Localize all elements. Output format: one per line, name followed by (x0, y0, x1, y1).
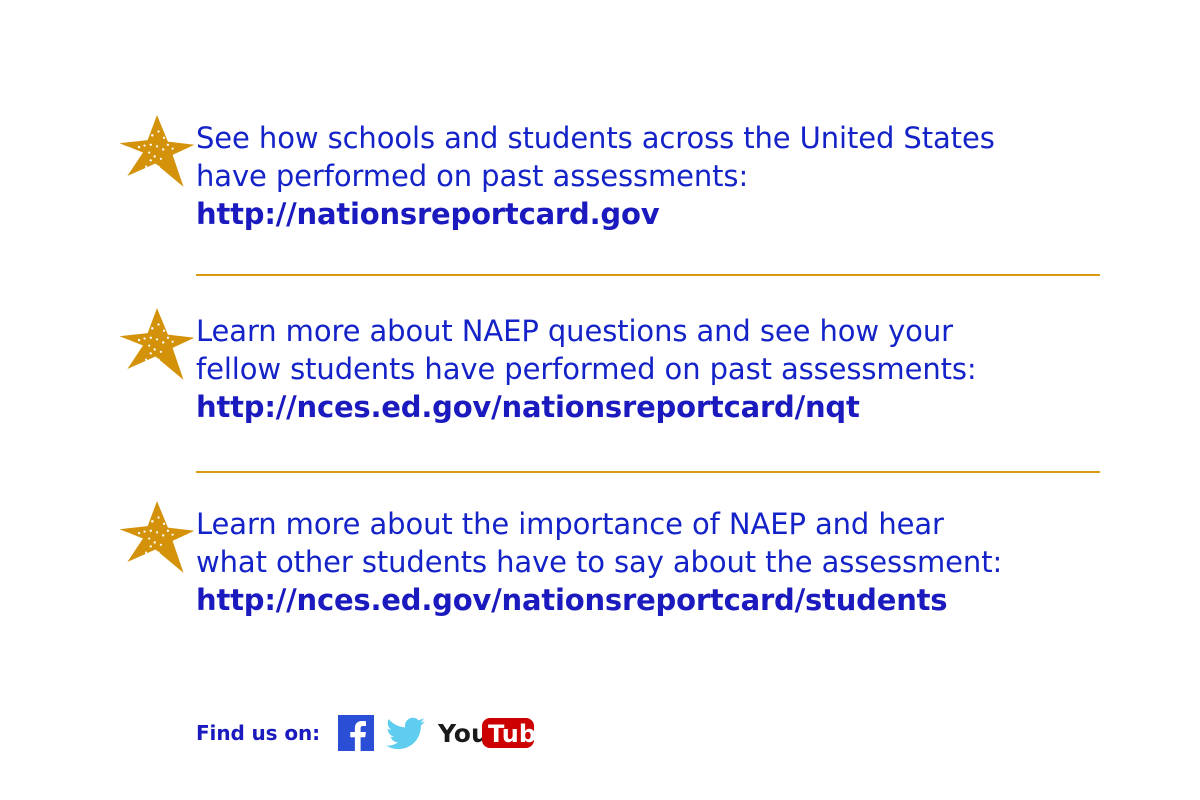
resource-url[interactable]: http://nces.ed.gov/nationsreportcard/nqt (196, 388, 1108, 426)
gold-star-icon (118, 112, 196, 190)
slide-canvas: See how schools and students across the … (0, 0, 1200, 800)
resource-line: Learn more about the importance of NAEP … (196, 505, 1108, 543)
resource-block: See how schools and students across the … (118, 112, 1108, 233)
resource-block: Learn more about NAEP questions and see … (118, 305, 1108, 426)
gold-star-icon (118, 498, 196, 576)
facebook-icon[interactable] (338, 715, 374, 751)
section-divider (196, 471, 1100, 473)
section-divider (196, 274, 1100, 276)
resource-line: fellow students have performed on past a… (196, 350, 1108, 388)
resource-line: Learn more about NAEP questions and see … (196, 312, 1108, 350)
resource-text: Learn more about the importance of NAEP … (196, 498, 1108, 619)
svg-text:Tube: Tube (488, 720, 534, 748)
youtube-icon[interactable]: You Tube (438, 716, 534, 750)
resource-line: See how schools and students across the … (196, 119, 1108, 157)
find-us-on-label: Find us on: (196, 723, 320, 743)
gold-star-icon (118, 305, 196, 383)
social-icon-list: You Tube (338, 715, 534, 751)
svg-text:You: You (438, 719, 489, 748)
social-footer: Find us on: You Tube (196, 710, 534, 756)
twitter-icon[interactable] (386, 715, 426, 751)
resource-text: Learn more about NAEP questions and see … (196, 305, 1108, 426)
resource-line: what other students have to say about th… (196, 543, 1108, 581)
resource-url[interactable]: http://nationsreportcard.gov (196, 195, 1108, 233)
resource-text: See how schools and students across the … (196, 112, 1108, 233)
resource-line: have performed on past assessments: (196, 157, 1108, 195)
resource-url[interactable]: http://nces.ed.gov/nationsreportcard/stu… (196, 581, 1108, 619)
resource-block: Learn more about the importance of NAEP … (118, 498, 1108, 619)
